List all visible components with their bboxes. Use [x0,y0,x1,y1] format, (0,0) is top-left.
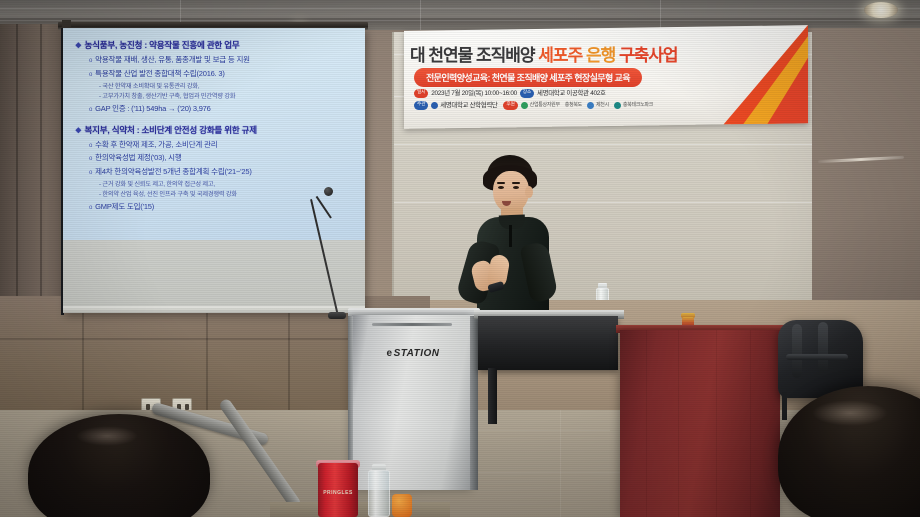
orange-drink-cap [392,494,412,517]
circle-bullet-icon: o [89,156,92,162]
diamond-bullet-icon: ❖ [75,41,82,50]
place-tag: 장소 [520,89,534,98]
snack-can-label: PRINGLES [319,490,357,496]
slide-bullet: o제4차 한의약육성발전 5개년 종합계획 수립('21~'25) [89,166,357,177]
ceiling-light [864,2,898,18]
banner-info-line-host: 주관세명대학교 산학협력단 후원산업통상자원부충청북도제천시충북테크노파크 [414,100,658,112]
microphone-capsule-icon [324,187,333,196]
circle-bullet-icon: o [89,107,92,113]
sponsor-name: 충청북도 [565,101,582,110]
banner-title: 대 천연물 조직배양 세포주 은행 구축사업 [410,41,710,66]
screen-bottom-bar [63,306,365,313]
slide-bullet: o약용작물 재배, 생산, 유통, 품종개발 및 보급 등 지원 [89,54,357,65]
banner-decoration [694,25,808,129]
slide-bullet: oGMP제도 도입('15) [89,201,357,212]
right-wall [800,28,920,328]
event-date: 2023년 7월 20일(목) 10:00~16:00 [431,90,517,97]
host-tag: 주관 [414,101,428,110]
slide-subbullet: - 고부가가치 창출, 생산기반 구축, 협업과 민간역량 강화 [99,91,357,100]
chair-leg [782,392,787,420]
presenter-eye [513,186,519,189]
left-wall-panel [0,24,66,324]
podium-brand-logo: eSTATION [352,348,474,359]
event-host: 세명대학교 산학협력단 [440,102,497,109]
slide-bullet: oGAP 인증 : ('11) 549ha → ('20) 3,976 [89,103,357,114]
circle-bullet-icon: o [89,143,92,149]
presenter-brow [497,182,505,184]
circle-bullet-icon: o [89,58,92,64]
hair-highlight [812,400,888,426]
sponsor-name: 제천시 [596,101,609,110]
university-logo-icon [431,102,438,109]
presentation-slide: ❖농식품부, 농진청 : 약용작물 진흥에 관한 업무 o약용작물 재배, 생산… [63,28,365,240]
banner-info-line-date: 일시2023년 7월 20일(목) 10:00~16:00 장소세명대학교 이공… [414,88,658,100]
slide-bullet: o수확 후 한약재 제조, 가공, 소비단계 관리 [89,139,357,150]
slide-heading-1: ❖농식품부, 농진청 : 약용작물 진흥에 관한 업무 [75,39,357,51]
podium-right-edge [470,316,478,490]
slide-subbullet: - 국산 한약재 소비확대 및 유통관리 강화, [99,81,357,90]
presenter-face [493,171,529,213]
side-desk-leg [488,368,497,424]
banner-subtitle: 전문인력양성교육: 천연물 조직배양 세포주 현장실무형 교육 [414,68,642,87]
water-bottle-front [368,470,390,517]
wooden-lectern [620,330,780,517]
slide-heading-2: ❖복지부, 식약처 : 소비단계 안전성 강화를 위한 규제 [75,124,357,136]
sponsor-logo-icon [587,102,594,109]
circle-bullet-icon: o [89,205,92,211]
sponsor-logo-icon [521,102,528,109]
slide-bullet: o특용작물 산업 발전 종합대책 수립(2016. 3) [89,68,357,79]
sponsor-name: 산업통상자원부 [530,101,560,110]
microphone-base [328,312,346,319]
e-bolt-icon: e [387,348,393,359]
presenter-placket [509,225,512,247]
presenter-eye [498,186,504,189]
wall-scuff [818,156,904,163]
sponsor-logo-icon [614,102,621,109]
slide-subbullet: - 근거 강화 및 신뢰도 제고, 한의약 접근성 제고, [99,179,357,188]
podium-vent [372,323,452,326]
presenter-ear [525,186,533,198]
hair-highlight [76,426,138,446]
banner-info: 일시2023년 7월 20일(목) 10:00~16:00 장소세명대학교 이공… [414,88,658,112]
sponsor-name: 충북테크노파크 [623,101,653,110]
lecture-room-photo: ❖농식품부, 농진청 : 약용작물 진흥에 관한 업무 o약용작물 재배, 생산… [0,0,920,517]
event-place: 세명대학교 이공학관 402호 [537,90,606,97]
circle-bullet-icon: o [89,72,92,78]
diamond-bullet-icon: ❖ [75,126,82,135]
projection-screen: ❖농식품부, 농진청 : 약용작물 진흥에 관한 업무 o약용작물 재배, 생산… [63,28,365,313]
front-table [270,502,450,517]
screen-blank-area [63,240,365,313]
sponsor-tag: 후원 [503,101,517,110]
presenter-brow [512,182,520,184]
circle-bullet-icon: o [89,170,92,176]
podium-e-station [352,315,474,490]
event-banner: 대 천연물 조직배양 세포주 은행 구축사업 전문인력양성교육: 천연물 조직배… [404,25,808,129]
side-desk [478,316,618,370]
date-tag: 일시 [414,89,428,98]
slide-bullet: o한의약육성법 제정('03), 시행 [89,152,357,163]
